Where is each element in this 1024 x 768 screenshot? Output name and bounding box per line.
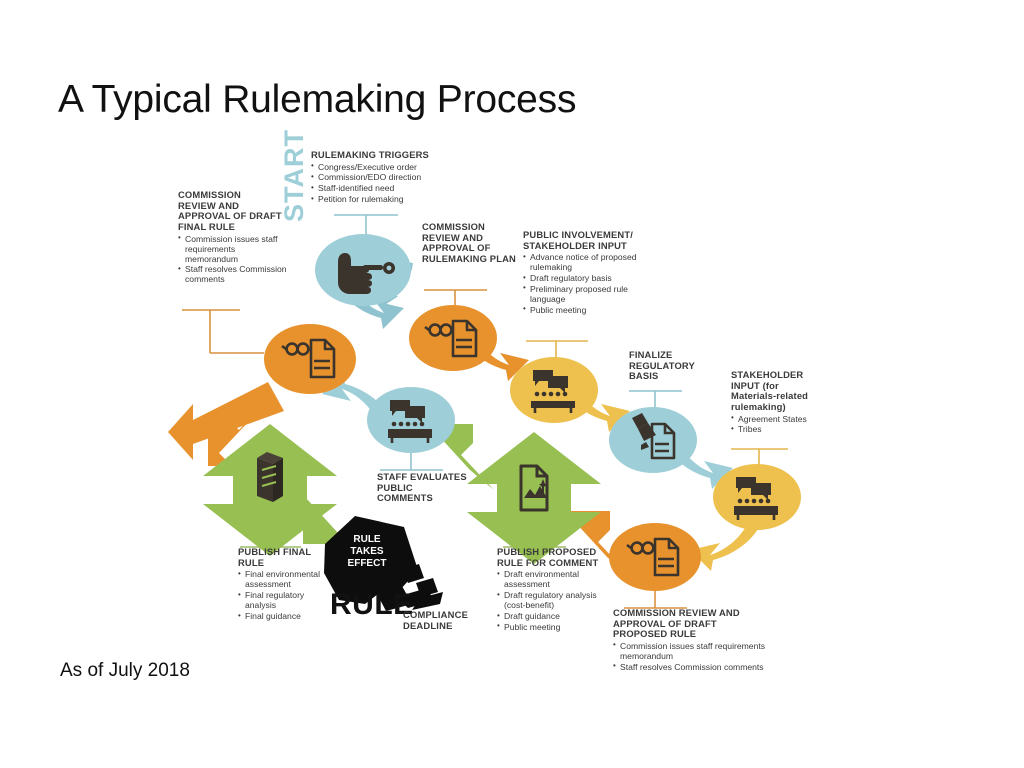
list-item: Final guidance bbox=[238, 611, 336, 621]
label-finalize-regulatory-basis: FINALIZE REGULATORY BASIS bbox=[629, 350, 725, 382]
label-bullets: Advance notice of proposed rulemaking Dr… bbox=[523, 252, 643, 315]
list-item: Staff resolves Commission comments bbox=[613, 662, 793, 672]
list-item: Advance notice of proposed rulemaking bbox=[523, 252, 643, 272]
label-bullets: Commission issues staff requirements mem… bbox=[613, 641, 793, 672]
list-item: Draft guidance bbox=[497, 611, 612, 621]
node-commission-review-rulemaking-plan bbox=[409, 305, 497, 371]
label-heading: PUBLIC INVOLVEMENT/ STAKEHOLDER INPUT bbox=[523, 230, 643, 251]
label-publish-proposed-rule: PUBLISH PROPOSED RULE FOR COMMENT Draft … bbox=[497, 547, 612, 632]
list-item: Staff-identified need bbox=[311, 183, 471, 193]
list-item: Petition for rulemaking bbox=[311, 194, 471, 204]
label-public-involvement: PUBLIC INVOLVEMENT/ STAKEHOLDER INPUT Ad… bbox=[523, 230, 643, 315]
list-item: Preliminary proposed rule language bbox=[523, 284, 643, 304]
label-commission-review-rulemaking-plan: COMMISSION REVIEW AND APPROVAL OF RULEMA… bbox=[422, 222, 522, 265]
rule-word-label: RULE bbox=[330, 588, 414, 622]
list-item: Public meeting bbox=[523, 305, 643, 315]
label-heading: FINALIZE REGULATORY BASIS bbox=[629, 350, 725, 382]
label-heading: PUBLISH PROPOSED RULE FOR COMMENT bbox=[497, 547, 612, 568]
label-heading: RULEMAKING TRIGGERS bbox=[311, 150, 471, 161]
label-heading: COMMISSION REVIEW AND APPROVAL OF DRAFT … bbox=[613, 608, 793, 640]
node-finalize-regulatory-basis bbox=[609, 407, 697, 473]
label-bullets: Congress/Executive order Commission/EDO … bbox=[311, 162, 471, 205]
label-publish-final-rule: PUBLISH FINAL RULE Final environmental a… bbox=[238, 547, 336, 621]
label-heading: COMMISSION REVIEW AND APPROVAL OF DRAFT … bbox=[178, 190, 290, 233]
list-item: Draft regulatory basis bbox=[523, 273, 643, 283]
label-heading: PUBLISH FINAL RULE bbox=[238, 547, 336, 568]
label-bullets: Final environmental assessment Final reg… bbox=[238, 569, 336, 621]
list-item: Draft environmental assessment bbox=[497, 569, 612, 589]
node-stakeholder-input-materials bbox=[713, 464, 801, 530]
list-item: Final environmental assessment bbox=[238, 569, 336, 589]
label-bullets: Commission issues staff requirements mem… bbox=[178, 234, 290, 285]
list-item: Draft regulatory analysis (cost-benefit) bbox=[497, 590, 612, 610]
rule-takes-effect-label: RULE TAKES EFFECT bbox=[332, 534, 402, 571]
list-item: Public meeting bbox=[497, 622, 612, 632]
compliance-deadline-label: COMPLIANCE DEADLINE bbox=[403, 609, 468, 631]
list-item: Tribes bbox=[731, 424, 841, 434]
label-staff-evaluates-public-comments: STAFF EVALUATES PUBLIC COMMENTS bbox=[377, 472, 477, 504]
list-item: Commission issues staff requirements mem… bbox=[613, 641, 793, 661]
list-item: Commission/EDO direction bbox=[311, 172, 471, 182]
node-staff-evaluates-public-comments bbox=[367, 387, 455, 453]
label-heading: COMMISSION REVIEW AND APPROVAL OF RULEMA… bbox=[422, 222, 522, 265]
node-rulemaking-triggers bbox=[315, 234, 411, 306]
list-item: Staff resolves Commission comments bbox=[178, 264, 290, 284]
list-item: Agreement States bbox=[731, 414, 841, 424]
slide-footer-date: As of July 2018 bbox=[60, 660, 190, 682]
label-commission-review-draft-final-rule: COMMISSION REVIEW AND APPROVAL OF DRAFT … bbox=[178, 190, 290, 285]
node-public-involvement bbox=[510, 357, 598, 423]
label-commission-review-draft-proposed-rule: COMMISSION REVIEW AND APPROVAL OF DRAFT … bbox=[613, 608, 793, 672]
label-bullets: Agreement States Tribes bbox=[731, 414, 841, 435]
label-heading: STAKEHOLDER INPUT (for Materials-related… bbox=[731, 370, 841, 413]
list-item: Commission issues staff requirements mem… bbox=[178, 234, 290, 264]
node-commission-review-draft-proposed-rule bbox=[609, 523, 701, 591]
list-item: Congress/Executive order bbox=[311, 162, 471, 172]
icon-book-final-rule bbox=[257, 452, 283, 502]
label-bullets: Draft environmental assessment Draft reg… bbox=[497, 569, 612, 632]
label-heading: STAFF EVALUATES PUBLIC COMMENTS bbox=[377, 472, 477, 504]
slide-canvas: A Typical Rulemaking Process bbox=[0, 0, 1024, 768]
label-rulemaking-triggers: RULEMAKING TRIGGERS Congress/Executive o… bbox=[311, 150, 471, 204]
rulemaking-process-diagram bbox=[0, 0, 1024, 768]
list-item: Final regulatory analysis bbox=[238, 590, 336, 610]
node-commission-review-draft-final-rule bbox=[264, 324, 356, 394]
label-stakeholder-input-materials: STAKEHOLDER INPUT (for Materials-related… bbox=[731, 370, 841, 434]
